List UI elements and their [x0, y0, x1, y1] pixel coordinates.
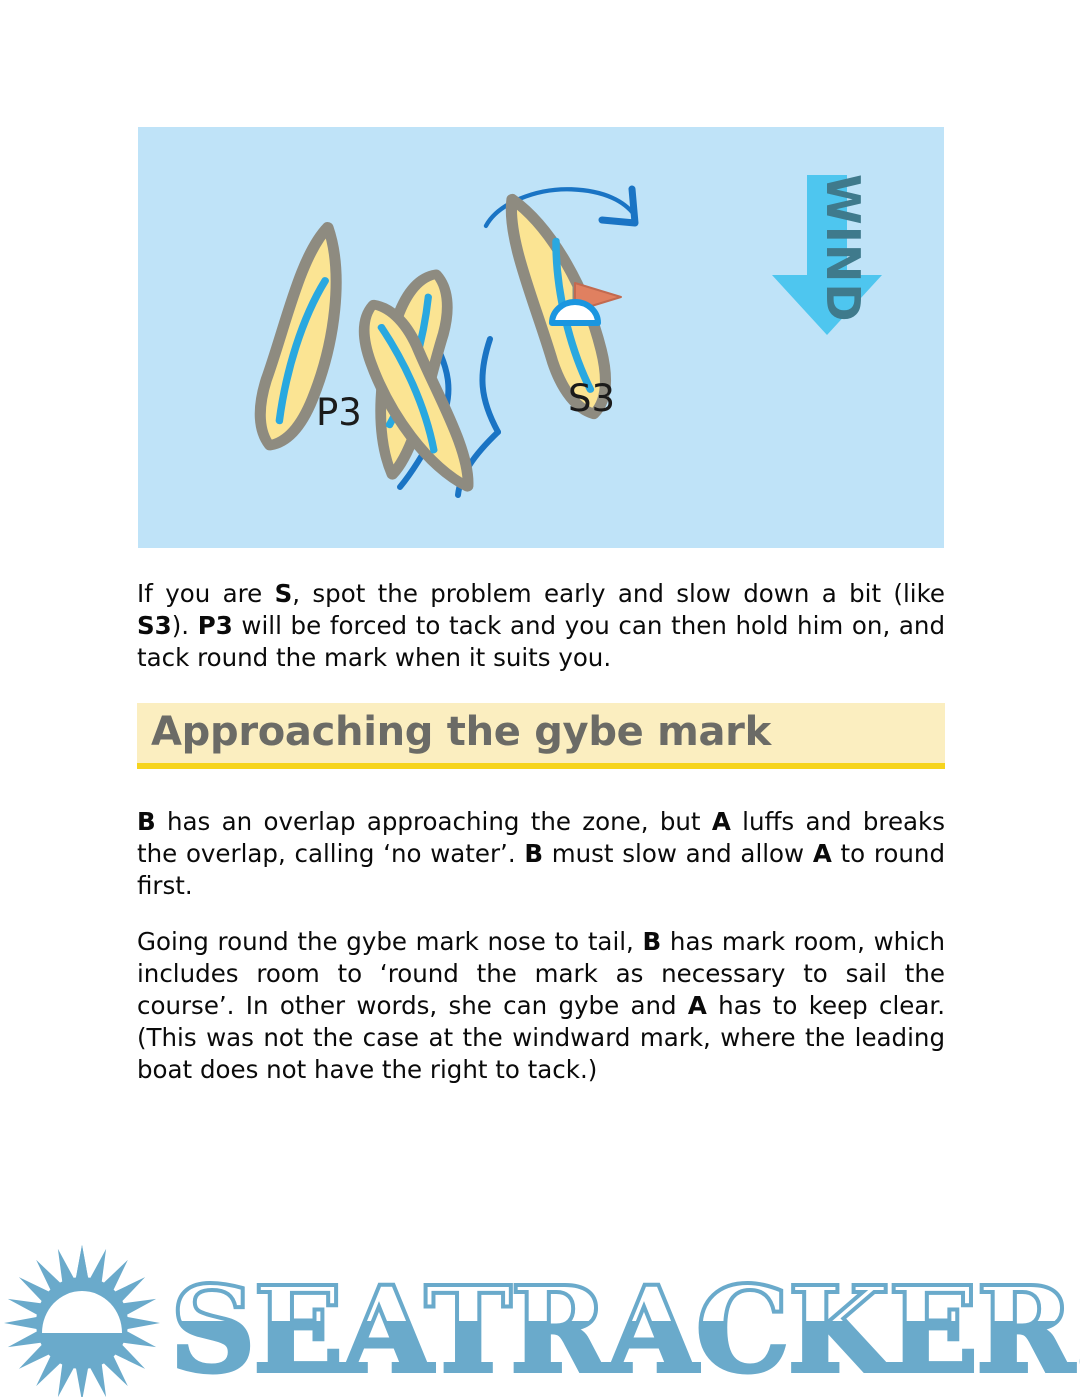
text-run: has an overlap approaching the zone, but: [156, 807, 712, 836]
paragraph-one: B has an overlap approaching the zone, b…: [137, 806, 945, 902]
emphasis-run: B: [524, 839, 543, 868]
paragraph-two: Going round the gybe mark nose to tail, …: [137, 926, 945, 1086]
text-run: ).: [172, 611, 198, 640]
label-p3: P3: [316, 391, 362, 434]
emphasis-run: S3: [137, 611, 172, 640]
windward-mark-diagram: P3 S3 WIND: [138, 127, 944, 548]
intro-paragraph: If you are S, spot the problem early and…: [137, 578, 945, 674]
label-s3: S3: [568, 377, 615, 420]
emphasis-run: S: [275, 579, 293, 608]
watermark-wordmark: SEATRACKER.RU SEATRACKER.RU: [170, 1260, 1080, 1397]
watermark-svg: SEATRACKER.RU SEATRACKER.RU: [0, 1243, 1080, 1397]
emphasis-run: A: [813, 839, 832, 868]
mark-dome: [552, 302, 598, 323]
seatracker-watermark: SEATRACKER.RU SEATRACKER.RU: [0, 1243, 1080, 1397]
section-heading-text: Approaching the gybe mark: [151, 709, 771, 755]
emphasis-run: A: [712, 807, 731, 836]
text-run: , spot the problem early and slow down a…: [292, 579, 945, 608]
section-heading-banner: Approaching the gybe mark: [137, 703, 945, 769]
sunburst-logo: [4, 1245, 160, 1397]
emphasis-run: B: [643, 927, 662, 956]
text-run: must slow and allow: [543, 839, 813, 868]
wind-label: WIND: [816, 174, 870, 323]
text-run: If you are: [137, 579, 275, 608]
emphasis-run: B: [137, 807, 156, 836]
text-run: Going round the gybe mark nose to tail,: [137, 927, 643, 956]
emphasis-run: P3: [198, 611, 233, 640]
text-run: will be forced to tack and you can then …: [137, 611, 945, 672]
document-page: P3 S3 WIND If you are S, spot the proble…: [0, 0, 1080, 1397]
emphasis-run: A: [688, 991, 707, 1020]
diagram-canvas: P3 S3 WIND: [138, 127, 944, 548]
